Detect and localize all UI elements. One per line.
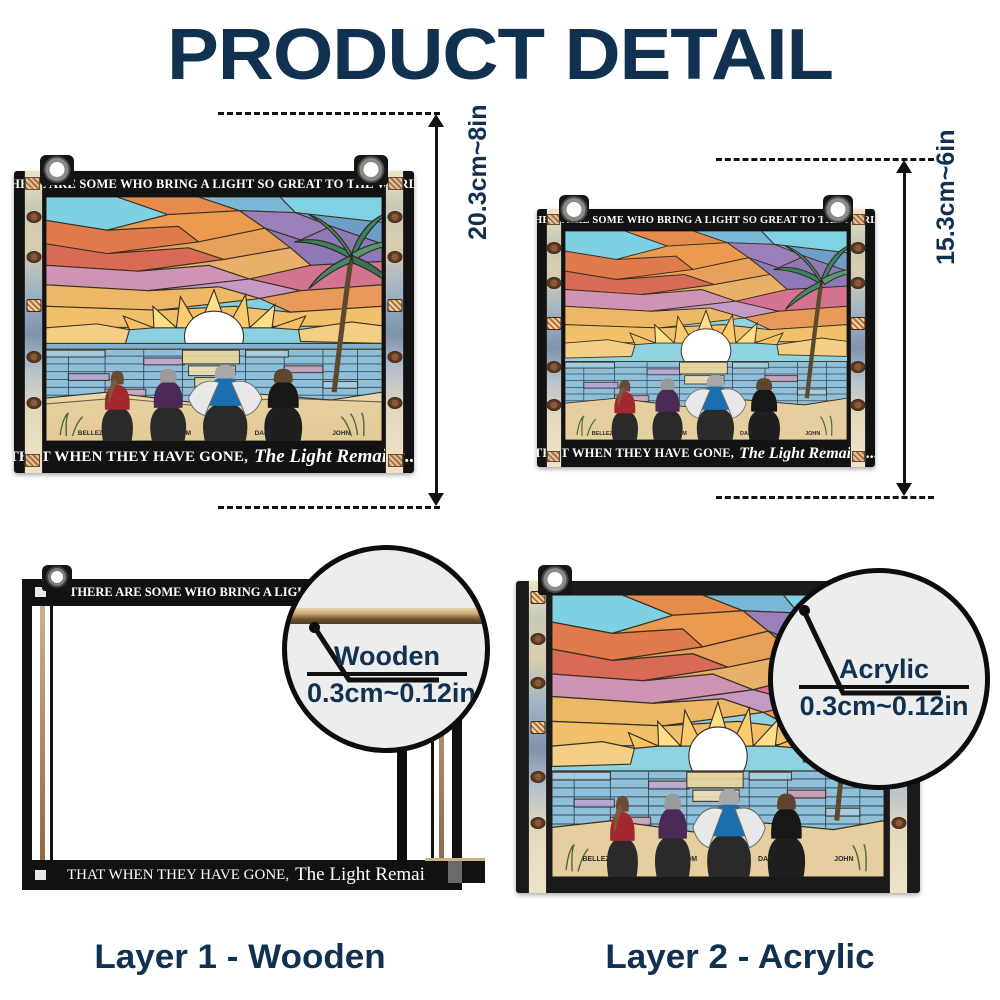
name-label: DAD [758,856,773,863]
name-labels-row: BELLEZZA MOM DAD JOHN [565,431,847,437]
name-label: MOM [680,856,697,863]
frame-rail-left [50,606,53,860]
corner-notch-bl [35,870,46,880]
corner-ornament-bl [25,454,40,467]
dimension-line-small [903,168,906,486]
wooden-edge-thickness-sample [425,858,485,883]
name-label: JOHN [332,430,350,437]
name-label: MOM [673,431,686,437]
dimension-arrow-bottom-small [896,483,912,496]
frame-body: THERE ARE SOME WHO BRING A LIGHT SO GREA… [14,171,414,473]
callout-inner: Wooden 0.3cm~0.12in [287,550,485,748]
artwork-svg [565,231,847,440]
hanging-ring-left [538,565,572,595]
dimension-label-small: 15.3cm~6in [932,129,961,265]
dimension-guide-bottom-small [716,496,934,499]
name-label: JOHN [805,431,820,437]
callout-label: Wooden 0.3cm~0.12in [307,642,467,708]
name-labels-row: BELLEZZA MOM DAD JOHN [552,856,884,863]
wooden-quote-bottom-plain: THAT WHEN THEY HAVE GONE, [67,867,289,884]
dimension-label-large: 20.3cm~8in [464,104,493,240]
name-label: BELLEZZA [592,431,621,437]
corner-ornament-tr [852,214,865,225]
corner-ornament-bl [547,451,560,462]
name-labels-row: BELLEZZA MOM DAD JOHN [46,430,382,437]
dimension-guide-top-large [218,112,440,115]
callout-inner: Acrylic 0.3cm~0.12in [773,573,985,785]
callout-label: Acrylic 0.3cm~0.12in [799,655,969,721]
artwork-svg [46,197,382,441]
wooden-thickness-callout: Wooden 0.3cm~0.12in [282,545,490,753]
decorative-border-right [850,209,866,467]
layer-1-caption: Layer 1 - Wooden [55,938,426,977]
dimension-arrow-top-small [896,160,912,173]
quote-bottom: THAT WHEN THEY HAVE GONE, The Light Rema… [14,441,414,473]
dimension-guide-bottom-large [218,506,440,509]
quote-bottom-plain: THAT WHEN THEY HAVE GONE, [14,449,248,466]
quote-bottom: THAT WHEN THEY HAVE GONE, The Light Rema… [537,440,875,467]
quote-bottom-plain: THAT WHEN THEY HAVE GONE, [537,446,734,461]
decorative-border-left [24,171,43,473]
hanging-ring-right [354,155,388,185]
decorative-border-right [385,171,404,473]
callout-material: Acrylic [799,655,969,685]
page-title: PRODUCT DETAIL [0,14,1000,96]
callout-thickness: 0.3cm~0.12in [799,685,969,720]
layer-2-caption: Layer 2 - Acrylic [555,938,926,977]
corner-ornament-br [388,454,403,467]
corner-ornament-tr [388,177,403,190]
stained-glass-artwork [565,231,847,440]
corner-ornament-br [852,451,865,462]
dimension-arrow-bottom-large [428,493,444,506]
frame-body: THERE ARE SOME WHO BRING A LIGHT SO GREA… [537,209,875,467]
wood-edge-left [40,606,45,860]
hanging-ring-right [823,195,853,222]
hanging-ring-left [559,195,589,222]
product-detail-infographic: PRODUCT DETAIL 20.3cm~8in [0,0,1000,1000]
suncatcher-small: THERE ARE SOME WHO BRING A LIGHT SO GREA… [537,195,875,467]
callout-material: Wooden [307,642,467,672]
callout-thickness: 0.3cm~0.12in [307,672,467,707]
name-label: DAD [740,431,752,437]
suncatcher-large: THERE ARE SOME WHO BRING A LIGHT SO GREA… [14,155,414,473]
hanging-ring-left [40,155,74,185]
frame-bar-left [22,579,32,890]
corner-ornament-tl [25,177,40,190]
name-label: MOM [175,430,191,437]
name-label: JOHN [834,856,853,863]
name-label: DAD [255,430,269,437]
name-label: BELLEZZA [582,856,619,863]
dimension-line-large [435,122,438,496]
acrylic-thickness-callout: Acrylic 0.3cm~0.12in [768,568,990,790]
stained-glass-artwork [46,197,382,441]
name-label: BELLEZZA [78,430,112,437]
dimension-arrow-top-large [428,114,444,127]
decorative-border-left [546,209,562,467]
hanging-ring-left [42,565,72,591]
decorative-border-left [528,581,547,893]
